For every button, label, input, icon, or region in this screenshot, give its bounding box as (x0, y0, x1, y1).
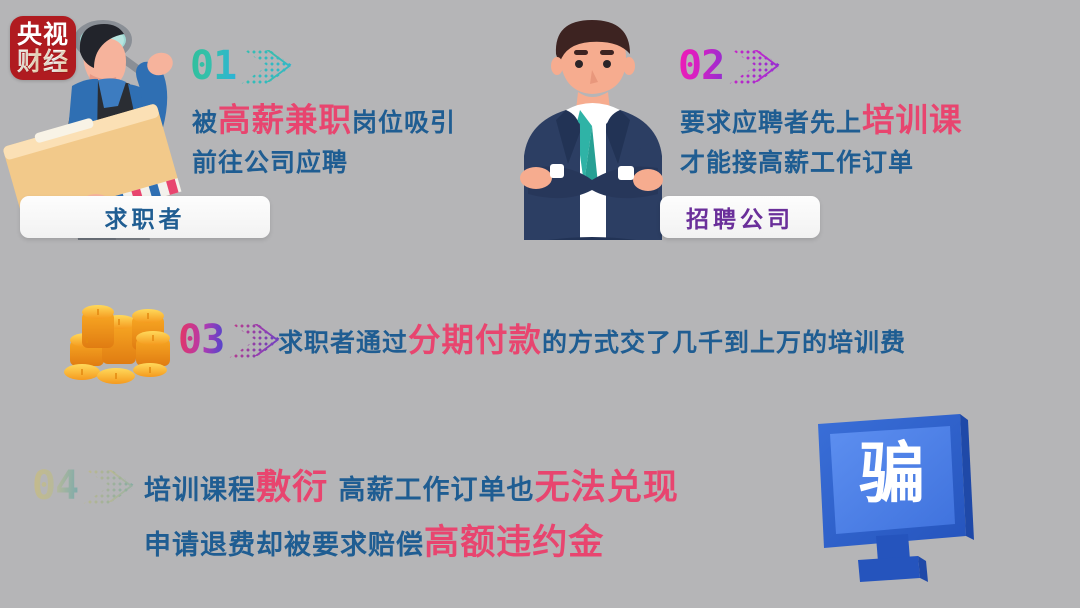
step-text-04: 培训课程敷衍 高薪工作订单也无法兑现申请退费却被要求赔偿高额违约金 (144, 462, 679, 572)
label-job-seeker-text: 求职者 (105, 200, 186, 234)
step-number-02: 02 (678, 46, 724, 86)
text-line-2: 申请退费却被要求赔偿高额违约金 (144, 517, 679, 572)
label-recruiting-company-text: 招聘公司 (686, 200, 794, 234)
text-run: 被 (192, 108, 218, 137)
text-line-2: 前往公司应聘 (192, 143, 456, 183)
highlighted-phrase: 分期付款 (408, 321, 542, 359)
chevron-arrow-icon (728, 44, 790, 88)
text-run: 要求应聘者先上 (680, 108, 862, 137)
highlighted-phrase: 培训课 (862, 101, 963, 139)
step-number-01: 01 (190, 46, 236, 86)
text-run: 岗位吸引 (352, 108, 456, 137)
step-text-03: 求职者通过分期付款的方式交了几千到上万的培训费 (278, 320, 906, 363)
highlighted-phrase: 无法兑现 (535, 467, 679, 508)
highlighted-phrase: 高额违约金 (424, 522, 604, 563)
step-text-02: 要求应聘者先上培训课才能接高薪工作订单 (680, 100, 963, 183)
logo-line-1: 央视 (17, 21, 69, 48)
text-line-1: 被高薪兼职岗位吸引 (192, 100, 456, 143)
chevron-arrow-icon (240, 44, 302, 88)
text-run: 培训课程 (144, 475, 256, 506)
infographic-canvas: 央视 财经 (0, 0, 1080, 608)
text-line-1: 求职者通过分期付款的方式交了几千到上万的培训费 (278, 320, 906, 363)
step-text-01: 被高薪兼职岗位吸引前往公司应聘 (192, 100, 456, 183)
chevron-arrow-icon (82, 464, 144, 508)
highlighted-phrase: 敷衍 (256, 467, 328, 508)
text-line-2: 才能接高薪工作订单 (680, 143, 963, 183)
text-line-1: 要求应聘者先上培训课 (680, 100, 963, 143)
step-marker-01: 01 (190, 44, 302, 88)
gold-coins-illustration (62, 296, 182, 388)
step-marker-02: 02 (678, 44, 790, 88)
label-job-seeker: 求职者 (20, 196, 270, 238)
text-run: 高薪工作订单也 (328, 475, 534, 506)
cctv-finance-logo: 央视 财经 (10, 16, 76, 80)
text-run: 前往公司应聘 (192, 148, 348, 177)
logo-line-2: 财经 (17, 48, 69, 75)
monitor-screen-text: 骗 (859, 435, 925, 512)
step-number-03: 03 (178, 320, 224, 360)
text-run: 求职者通过 (278, 328, 408, 357)
text-run: 申请退费却被要求赔偿 (144, 530, 424, 561)
step-number-04: 04 (32, 466, 78, 506)
text-line-1: 培训课程敷衍 高薪工作订单也无法兑现 (144, 462, 679, 517)
step-marker-03: 03 (178, 318, 290, 362)
label-recruiting-company: 招聘公司 (660, 196, 820, 238)
scam-monitor-illustration: 骗 (800, 408, 1010, 593)
text-run: 才能接高薪工作订单 (680, 148, 914, 177)
text-run: 的方式交了几千到上万的培训费 (542, 328, 906, 357)
highlighted-phrase: 高薪兼职 (218, 101, 352, 139)
step-marker-04: 04 (32, 464, 144, 508)
